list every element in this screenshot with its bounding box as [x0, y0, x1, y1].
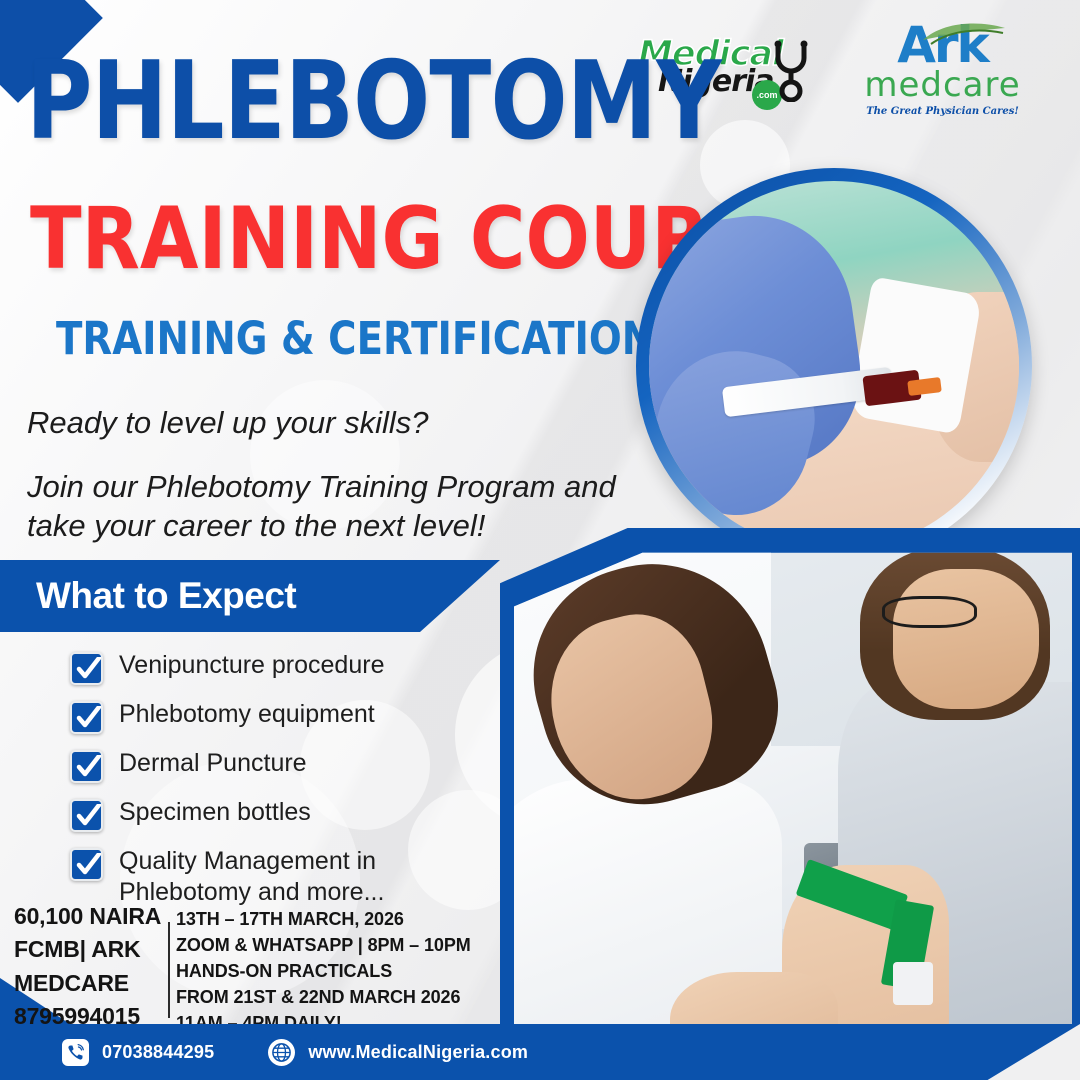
- list-item-label: Dermal Puncture: [119, 748, 307, 779]
- what-to-expect-banner: What to Expect: [0, 560, 500, 632]
- stethoscope-icon: [770, 40, 818, 102]
- payment-details: 60,100 NAIRA FCMB| ARK MEDCARE 879599401…: [14, 900, 179, 1033]
- footer-phone-number: 07038844295: [102, 1042, 214, 1063]
- checkbox-checked-icon: [70, 701, 103, 734]
- list-item: Quality Management in Phlebotomy and mor…: [70, 846, 470, 907]
- footer-phone[interactable]: 07038844295: [62, 1039, 214, 1066]
- schedule-details: 13TH – 17TH MARCH, 2026 ZOOM & WHATSAPP …: [176, 906, 486, 1036]
- photo-patient-face: [893, 569, 1038, 709]
- list-item: Dermal Puncture: [70, 748, 470, 783]
- schedule-platform: ZOOM & WHATSAPP | 8PM – 10PM: [176, 932, 486, 958]
- bank-name: FCMB| ARK MEDCARE: [14, 933, 179, 1000]
- intro-line-1: Ready to level up your skills?: [27, 404, 627, 441]
- list-item-label: Quality Management in Phlebotomy and mor…: [119, 846, 470, 907]
- medcare-wordmark: medcare: [835, 68, 1050, 102]
- footer-website[interactable]: www.MedicalNigeria.com: [268, 1039, 528, 1066]
- course-price: 60,100 NAIRA: [14, 900, 179, 933]
- schedule-practicals: HANDS-ON PRACTICALS: [176, 958, 486, 984]
- ark-swoosh-icon: [921, 20, 1007, 46]
- list-item-label: Specimen bottles: [119, 797, 311, 828]
- list-item-label: Venipuncture procedure: [119, 650, 384, 681]
- poster-canvas: Medical Nigeria .com Ark medcare The Gre…: [0, 0, 1080, 1080]
- checkbox-checked-icon: [70, 799, 103, 832]
- venipuncture-photo-circle: [636, 168, 1032, 564]
- list-item: Venipuncture procedure: [70, 650, 470, 685]
- list-item: Specimen bottles: [70, 797, 470, 832]
- footer-bar: 07038844295 www.MedicalNigeria.com: [0, 1024, 1080, 1080]
- checkbox-checked-icon: [70, 848, 103, 881]
- phone-icon: [62, 1039, 89, 1066]
- globe-icon: [268, 1039, 295, 1066]
- ark-tagline: The Great Physician Cares!: [835, 106, 1050, 117]
- checkbox-checked-icon: [70, 750, 103, 783]
- poster-title: PHLEBOTOMY: [26, 52, 721, 151]
- venipuncture-photo: [649, 181, 1019, 551]
- schedule-dates: 13TH – 17TH MARCH, 2026: [176, 906, 486, 932]
- what-to-expect-title: What to Expect: [36, 575, 296, 617]
- ark-medcare-logo: Ark medcare The Great Physician Cares!: [835, 22, 1050, 134]
- photo-tourniquet-clip: [893, 962, 932, 1005]
- blood-draw-photo-block: [500, 528, 1080, 1080]
- footer-website-url: www.MedicalNigeria.com: [308, 1042, 528, 1063]
- list-item: Phlebotomy equipment: [70, 699, 470, 734]
- expect-checklist: Venipuncture procedure Phlebotomy equipm…: [70, 650, 470, 921]
- checkbox-checked-icon: [70, 652, 103, 685]
- photo-gauze: [849, 276, 983, 434]
- list-item-label: Phlebotomy equipment: [119, 699, 375, 730]
- poster-tertiary-heading: TRAINING & CERTIFICATION: [56, 316, 654, 361]
- schedule-practical-dates: FROM 21ST & 22ND MARCH 2026: [176, 984, 486, 1010]
- section-divider: [168, 922, 170, 1018]
- blood-draw-photo: [514, 542, 1072, 1080]
- photo-patient-glasses: [882, 596, 977, 628]
- footer-corner-accent: [970, 1024, 1080, 1080]
